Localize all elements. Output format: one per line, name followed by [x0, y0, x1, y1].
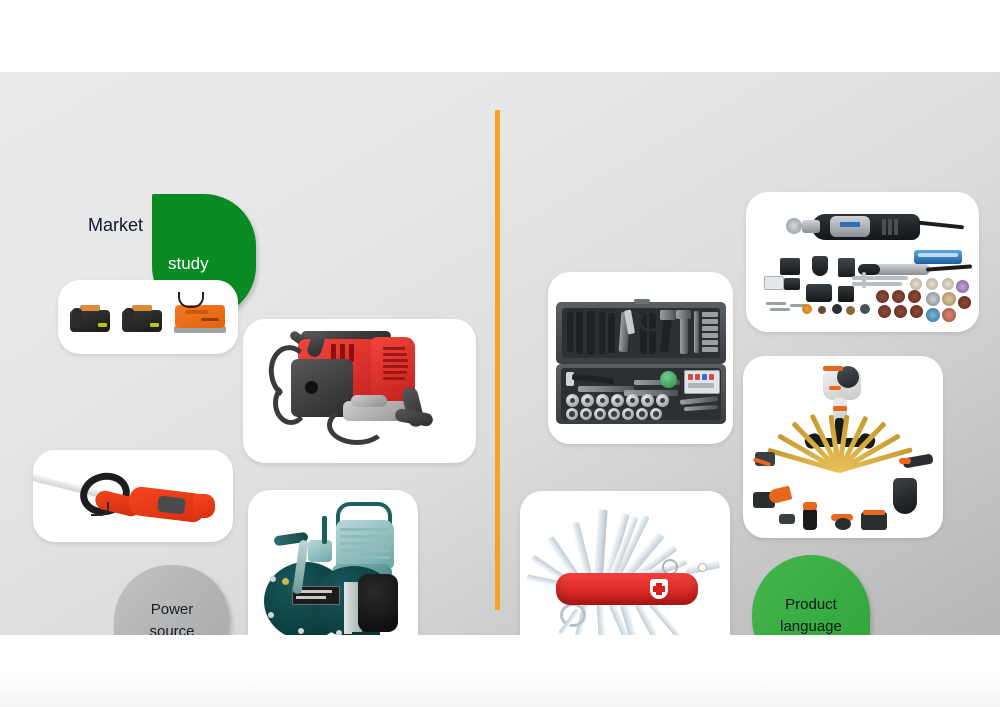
- rotary-tool-kit-photo: [746, 192, 979, 332]
- market-study-label: study: [168, 252, 256, 277]
- slide-page: Market study Power source Product langua…: [0, 0, 1000, 707]
- tool-case-photo: [548, 272, 733, 444]
- power-source-line1: Power: [149, 599, 194, 621]
- teal-engine-photo: [248, 490, 418, 635]
- product-language-label: Product language: [780, 594, 842, 635]
- red-engine-photo: [243, 319, 476, 463]
- red-engine-card[interactable]: [243, 319, 476, 463]
- product-language-line1: Product: [780, 594, 842, 616]
- cordless-trimmer-photo: [33, 450, 233, 542]
- swiss-army-knife-photo: [520, 491, 730, 635]
- teal-engine-card[interactable]: [248, 490, 418, 635]
- swiss-army-knife-card[interactable]: [520, 491, 730, 635]
- tool-case-card[interactable]: [548, 272, 733, 444]
- cordless-trimmer-card[interactable]: [33, 450, 233, 542]
- product-language-callout[interactable]: Product language: [752, 555, 870, 635]
- power-source-label: Power source: [149, 599, 194, 635]
- slide-canvas: Market study Power source Product langua…: [0, 72, 1000, 635]
- product-language-line2: language: [780, 616, 842, 635]
- garden-multitool-card[interactable]: [743, 356, 943, 538]
- battery-charger-card[interactable]: [58, 280, 238, 354]
- battery-charger-photo: [58, 280, 238, 354]
- rotary-tool-kit-card[interactable]: [746, 192, 979, 332]
- bottom-white-band: [0, 635, 1000, 707]
- power-source-line2: source: [149, 621, 194, 635]
- market-label: Market: [88, 215, 143, 236]
- garden-multitool-photo: [743, 356, 943, 538]
- vertical-divider: [495, 110, 500, 610]
- power-source-callout[interactable]: Power source: [114, 565, 230, 635]
